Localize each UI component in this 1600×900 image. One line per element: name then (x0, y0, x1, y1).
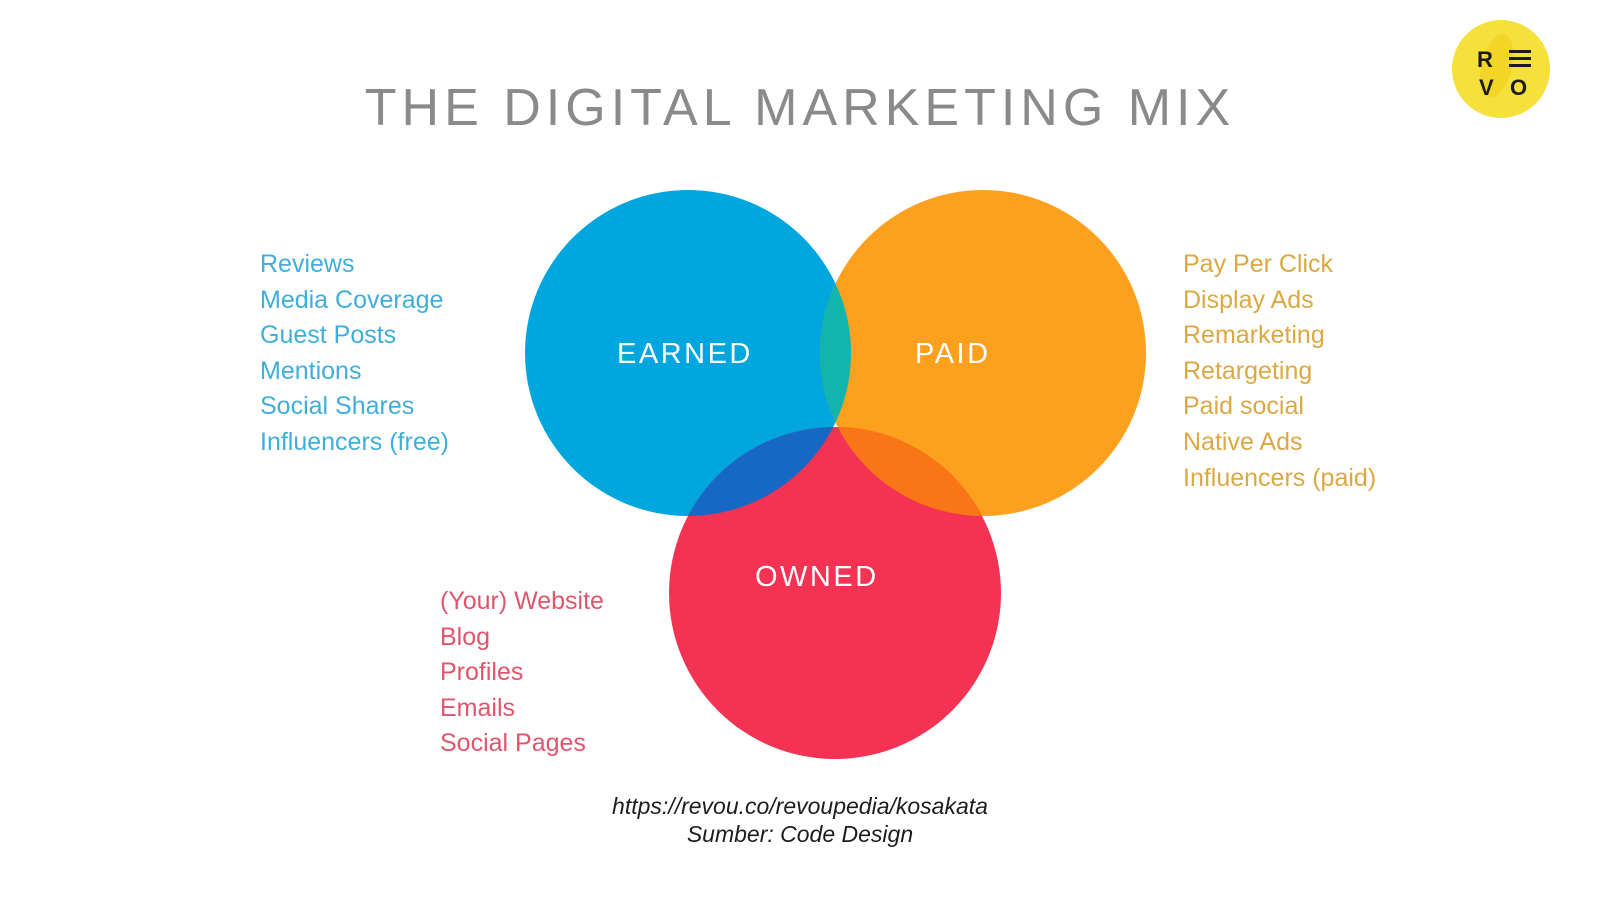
list-item: Paid social (1183, 389, 1376, 425)
list-item: Mentions (260, 354, 449, 390)
list-item: Display Ads (1183, 283, 1376, 319)
venn-svg (520, 180, 1160, 770)
list-item: Social Pages (440, 726, 604, 762)
logo-letter-o: O (1510, 77, 1527, 99)
logo-letters: R V O (1452, 20, 1550, 118)
list-item: Influencers (paid) (1183, 461, 1376, 497)
slide-canvas: THE DIGITAL MARKETING MIX R V O (0, 0, 1600, 900)
list-item: Emails (440, 691, 604, 727)
paid-item-list: Pay Per Click Display Ads Remarketing Re… (1183, 247, 1376, 496)
page-title: THE DIGITAL MARKETING MIX (0, 78, 1600, 138)
logo-letter-v: V (1479, 77, 1494, 99)
list-item: (Your) Website (440, 584, 604, 620)
list-item: Social Shares (260, 389, 449, 425)
earned-item-list: Reviews Media Coverage Guest Posts Menti… (260, 247, 449, 461)
owned-item-list: (Your) Website Blog Profiles Emails Soci… (440, 584, 604, 762)
logo-letter-e-bars-icon (1509, 50, 1531, 68)
list-item: Media Coverage (260, 283, 449, 319)
logo-letter-r: R (1477, 49, 1493, 71)
list-item: Remarketing (1183, 318, 1376, 354)
source-url[interactable]: https://revou.co/revoupedia/kosakata (0, 792, 1600, 820)
list-item: Retargeting (1183, 354, 1376, 390)
venn-label-paid: PAID (915, 338, 991, 371)
list-item: Native Ads (1183, 425, 1376, 461)
list-item: Pay Per Click (1183, 247, 1376, 283)
list-item: Profiles (440, 655, 604, 691)
venn-diagram: EARNED PAID OWNED (520, 180, 1160, 770)
list-item: Reviews (260, 247, 449, 283)
list-item: Influencers (free) (260, 425, 449, 461)
venn-label-owned: OWNED (755, 561, 879, 594)
venn-label-earned: EARNED (617, 338, 753, 371)
source-credit: Sumber: Code Design (0, 820, 1600, 848)
list-item: Guest Posts (260, 318, 449, 354)
list-item: Blog (440, 620, 604, 656)
revou-logo[interactable]: R V O (1452, 20, 1550, 118)
footer: https://revou.co/revoupedia/kosakata Sum… (0, 792, 1600, 848)
